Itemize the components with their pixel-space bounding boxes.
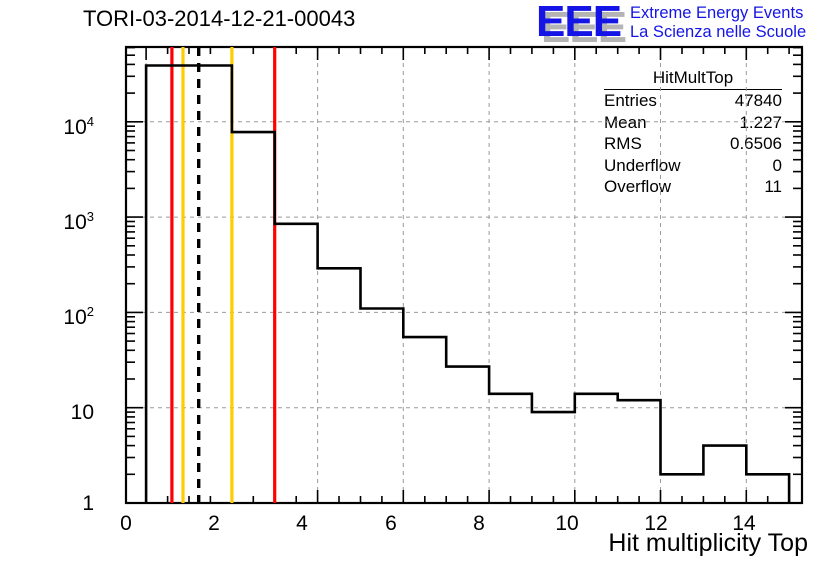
marker-lines [172, 47, 275, 503]
histogram-steps [146, 66, 789, 504]
plot-frame [126, 47, 802, 503]
gridlines [126, 47, 802, 503]
histogram-plot [0, 0, 836, 572]
axis-ticks [126, 47, 802, 503]
